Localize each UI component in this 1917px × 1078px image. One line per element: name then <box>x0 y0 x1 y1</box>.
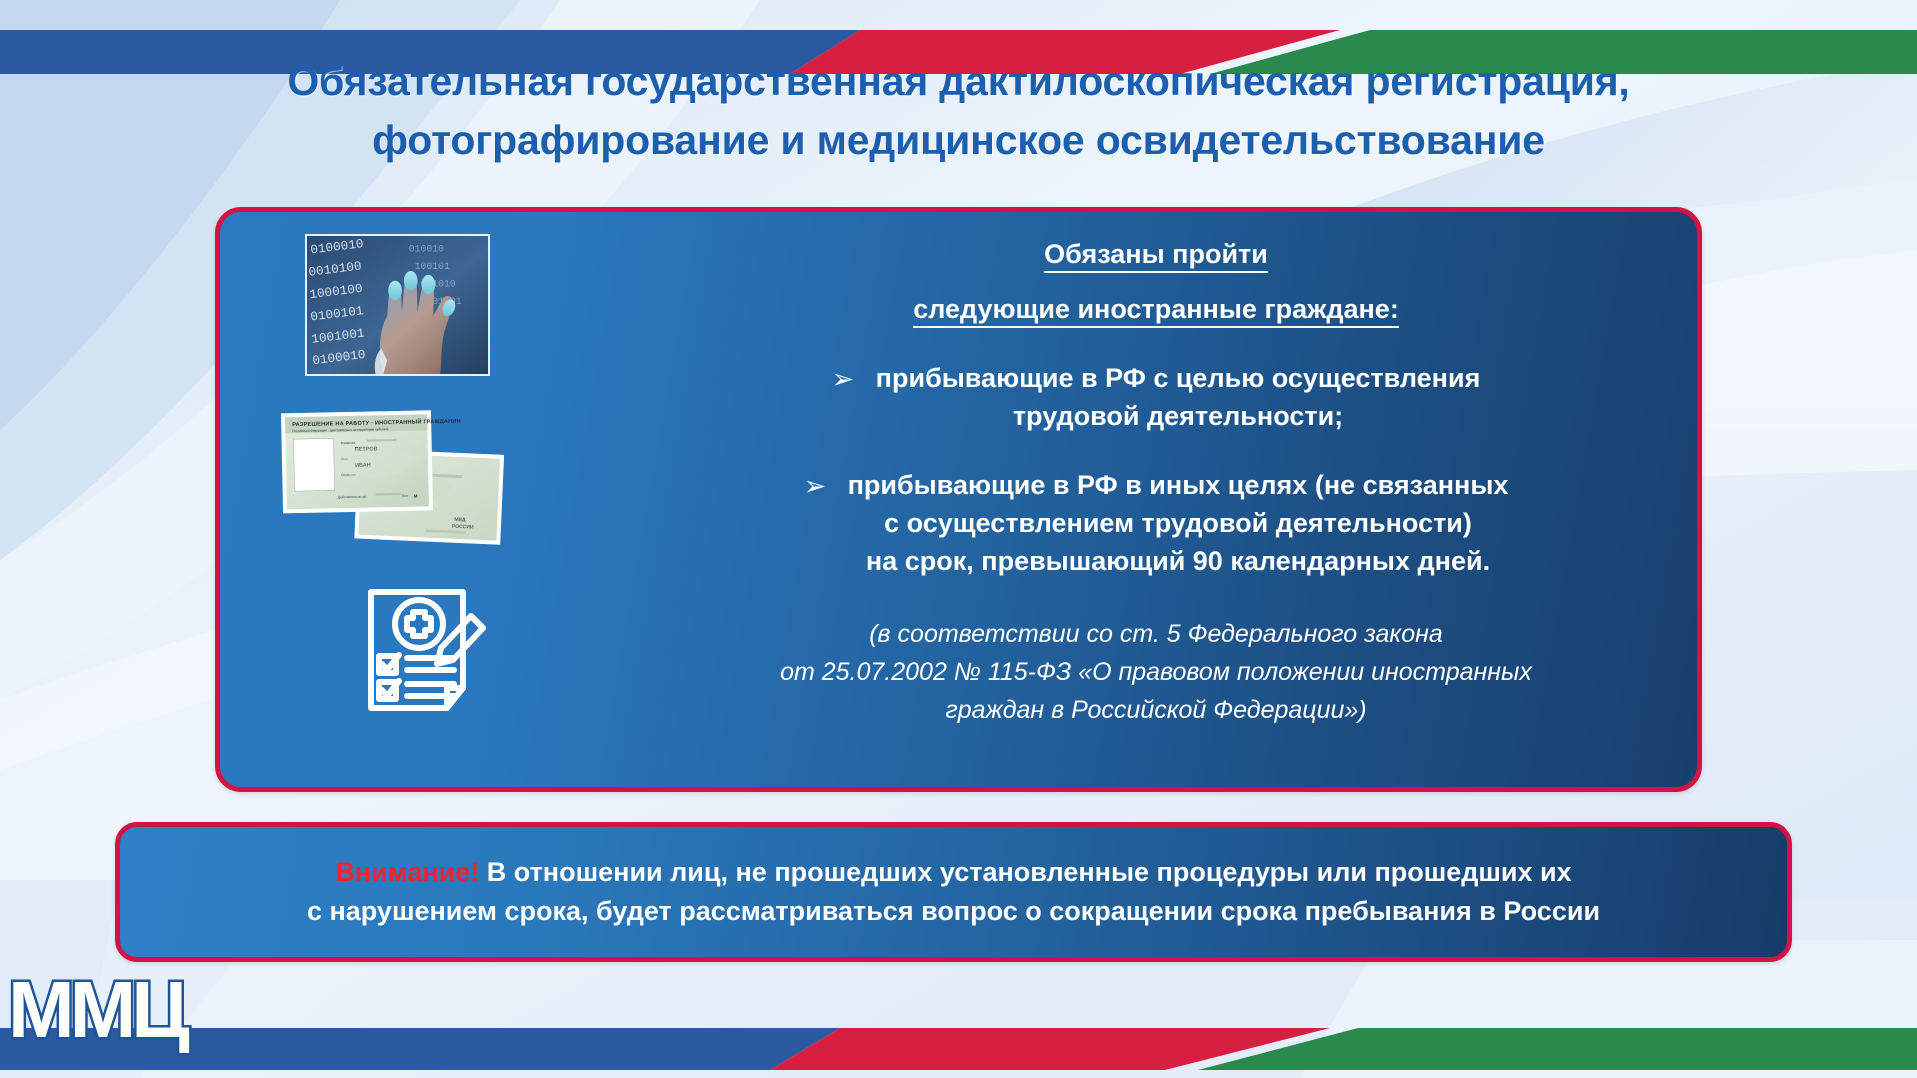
warning-line-1: Внимание! В отношении лиц, не прошедших … <box>307 853 1600 892</box>
legal-reference-note: (в соответствии со ст. 5 Федерального за… <box>615 615 1697 729</box>
identity-documents-image: федеральный округ территориальный орган … <box>277 402 504 545</box>
bullet-item: ➢ прибывающие в РФ в иных целях (не связ… <box>615 466 1697 581</box>
bullet-item: ➢ прибывающие в РФ с целью осуществления… <box>615 359 1697 436</box>
svg-text:М: М <box>414 494 418 499</box>
svg-text:Фамилия: Фамилия <box>341 441 356 445</box>
bottom-ribbon <box>0 1008 1917 1078</box>
bullet-2-line-2: с осуществлением трудовой деятельности) <box>848 504 1509 542</box>
warning-emphasis-label: Внимание! <box>335 857 479 887</box>
bullet-2-line-1: прибывающие в РФ в иных целях (не связан… <box>848 466 1509 504</box>
warning-text: Внимание! В отношении лиц, не прошедших … <box>281 853 1626 931</box>
page-title: Обязательная государственная дактилоскоп… <box>0 52 1917 171</box>
biometric-hand-scan-image: 0100010 0010100 1000100 0100101 1001001 … <box>305 234 490 376</box>
panel-heading-line-1: Обязаны пройти <box>615 234 1697 275</box>
warning-panel: Внимание! В отношении лиц, не прошедших … <box>115 822 1792 962</box>
svg-text:010010: 010010 <box>409 244 444 255</box>
panel-heading-line-2-text: следующие иностранные граждане: <box>913 294 1399 328</box>
warning-line-2: с нарушением срока, будет рассматриватьс… <box>307 892 1600 931</box>
arrow-bullet-icon: ➢ <box>804 466 848 505</box>
bullet-1-line-1: прибывающие в РФ с целью осуществления <box>876 359 1481 397</box>
bullet-2-line-3: на срок, превышающий 90 календарных дней… <box>848 542 1509 580</box>
svg-text:100101: 100101 <box>415 261 450 272</box>
page-title-line-1: Обязательная государственная дактилоскоп… <box>0 52 1917 111</box>
svg-text:МВД: МВД <box>454 517 466 524</box>
warning-line-1-rest: В отношении лиц, не прошедших установлен… <box>479 857 1571 887</box>
imagery-column: 0100010 0010100 1000100 0100101 1001001 … <box>220 212 610 787</box>
brand-logo: ММЦ <box>8 962 218 1058</box>
panel-heading-line-1-text: Обязаны пройти <box>1044 239 1268 273</box>
arrow-bullet-icon: ➢ <box>832 359 876 398</box>
bullet-item-text: прибывающие в РФ в иных целях (не связан… <box>848 466 1509 581</box>
bullet-item-text: прибывающие в РФ с целью осуществления т… <box>876 359 1481 436</box>
slide-canvas: Обязательная государственная дактилоскоп… <box>0 0 1917 1078</box>
svg-text:Пол: Пол <box>402 494 408 498</box>
main-content-panel: 0100010 0010100 1000100 0100101 1001001 … <box>215 207 1702 792</box>
svg-text:Действительно до: Действительно до <box>338 495 367 500</box>
content-column: Обязаны пройти следующие иностранные гра… <box>615 212 1697 787</box>
legal-note-line-1: (в соответствии со ст. 5 Федерального за… <box>615 615 1697 653</box>
panel-heading-line-2: следующие иностранные граждане: <box>615 289 1697 330</box>
page-title-line-2: фотографирование и медицинское освидетел… <box>0 111 1917 170</box>
legal-note-line-3: граждан в Российской Федерации») <box>615 691 1697 729</box>
svg-text:РОССИИ: РОССИИ <box>452 524 474 531</box>
medical-form-checklist-icon <box>355 580 500 725</box>
legal-note-line-2: от 25.07.2002 № 115-ФЗ «О правовом полож… <box>615 653 1697 691</box>
bullet-1-line-2: трудовой деятельности; <box>876 397 1481 435</box>
